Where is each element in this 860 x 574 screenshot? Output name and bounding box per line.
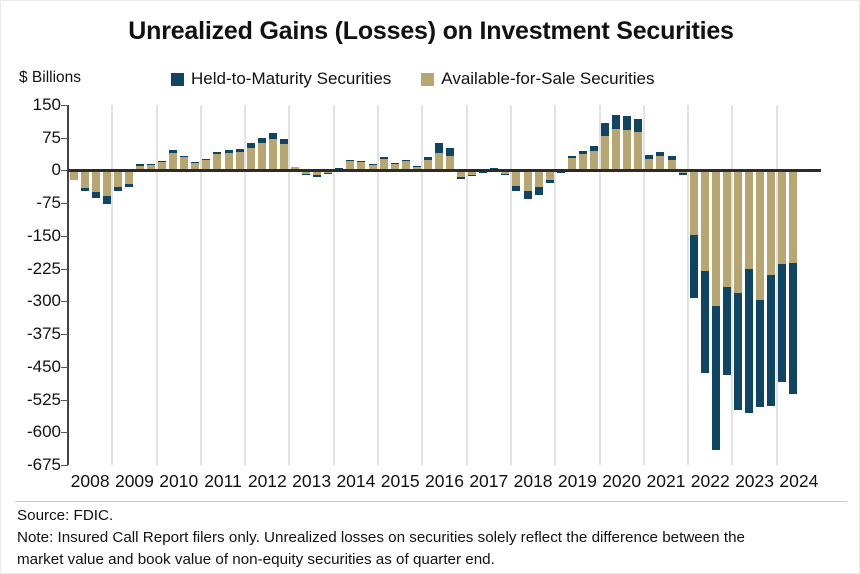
x-tick-label: 2024 bbox=[779, 471, 818, 492]
bar-segment-held-to-maturity bbox=[546, 180, 554, 183]
bar-group[interactable] bbox=[213, 105, 221, 465]
bar-segment-held-to-maturity bbox=[557, 172, 565, 173]
bar-group[interactable] bbox=[114, 105, 122, 465]
footer-note-line-2: market value and book value of non-equit… bbox=[17, 549, 847, 571]
y-tick-mark bbox=[61, 334, 68, 335]
bar-group[interactable] bbox=[402, 105, 410, 465]
bar-segment-available-for-sale bbox=[745, 170, 753, 268]
bar-group[interactable] bbox=[424, 105, 432, 465]
legend-item-available-for-sale[interactable]: Available-for-Sale Securities bbox=[421, 69, 654, 89]
bar-segment-available-for-sale bbox=[767, 170, 775, 275]
bar-segment-available-for-sale bbox=[623, 130, 631, 170]
y-tick-label: -675 bbox=[27, 455, 61, 475]
bar-group[interactable] bbox=[568, 105, 576, 465]
bar-segment-available-for-sale bbox=[114, 170, 122, 187]
bar-group[interactable] bbox=[158, 105, 166, 465]
y-tick-label: -300 bbox=[27, 291, 61, 311]
footer-source: Source: FDIC. bbox=[17, 505, 847, 527]
bar-group[interactable] bbox=[103, 105, 111, 465]
y-tick-mark bbox=[61, 203, 68, 204]
bar-group[interactable] bbox=[579, 105, 587, 465]
footer-divider bbox=[15, 501, 847, 502]
bar-segment-held-to-maturity bbox=[535, 187, 543, 195]
bar-group[interactable] bbox=[236, 105, 244, 465]
bar-segment-held-to-maturity bbox=[169, 150, 177, 153]
bar-segment-held-to-maturity bbox=[656, 152, 664, 156]
bar-segment-available-for-sale bbox=[280, 144, 288, 171]
x-tick-label: 2018 bbox=[514, 471, 553, 492]
bar-group[interactable] bbox=[446, 105, 454, 465]
bar-group[interactable] bbox=[70, 105, 78, 465]
bar-segment-held-to-maturity bbox=[690, 235, 698, 298]
y-tick-label: 0 bbox=[52, 160, 61, 180]
bar-segment-held-to-maturity bbox=[457, 177, 465, 179]
bar-segment-available-for-sale bbox=[601, 136, 609, 170]
x-tick-label: 2009 bbox=[115, 471, 154, 492]
bar-segment-held-to-maturity bbox=[313, 175, 321, 177]
bar-segment-available-for-sale bbox=[258, 143, 266, 170]
bar-segment-held-to-maturity bbox=[712, 306, 720, 450]
y-tick-mark bbox=[61, 170, 68, 171]
bar-segment-available-for-sale bbox=[712, 170, 720, 305]
bar-segment-held-to-maturity bbox=[92, 192, 100, 197]
bar-segment-held-to-maturity bbox=[191, 162, 199, 163]
bar-segment-available-for-sale bbox=[734, 170, 742, 292]
bar-group[interactable] bbox=[623, 105, 631, 465]
bar-segment-held-to-maturity bbox=[346, 160, 354, 161]
bar-segment-held-to-maturity bbox=[634, 119, 642, 132]
bar-segment-held-to-maturity bbox=[202, 159, 210, 160]
legend-swatch-held-to-maturity bbox=[171, 73, 184, 86]
bar-segment-held-to-maturity bbox=[247, 143, 255, 147]
bar-segment-held-to-maturity bbox=[501, 174, 509, 175]
y-tick-mark bbox=[61, 432, 68, 433]
bar-segment-available-for-sale bbox=[690, 170, 698, 235]
bar-segment-held-to-maturity bbox=[81, 188, 89, 191]
bar-group[interactable] bbox=[712, 105, 720, 465]
bar-segment-held-to-maturity bbox=[180, 156, 188, 158]
bar-group[interactable] bbox=[247, 105, 255, 465]
y-tick-mark bbox=[61, 138, 68, 139]
legend-swatch-available-for-sale bbox=[421, 73, 434, 86]
y-tick-mark bbox=[61, 105, 68, 106]
bar-group[interactable] bbox=[767, 105, 775, 465]
bar-segment-available-for-sale bbox=[778, 170, 786, 264]
bar-segment-held-to-maturity bbox=[512, 186, 520, 191]
bar-segment-held-to-maturity bbox=[357, 161, 365, 162]
chart-frame: Unrealized Gains (Losses) on Investment … bbox=[0, 0, 860, 574]
y-tick-label: 75 bbox=[42, 128, 61, 148]
bar-segment-available-for-sale bbox=[723, 170, 731, 287]
y-tick-mark bbox=[61, 465, 68, 466]
bar-segment-available-for-sale bbox=[92, 170, 100, 192]
y-tick-label: -375 bbox=[27, 324, 61, 344]
bar-segment-held-to-maturity bbox=[380, 157, 388, 159]
bar-segment-available-for-sale bbox=[789, 170, 797, 263]
bar-segment-held-to-maturity bbox=[125, 184, 133, 187]
bar-segment-available-for-sale bbox=[125, 170, 133, 183]
bar-group[interactable] bbox=[225, 105, 233, 465]
y-tick-label: -150 bbox=[27, 226, 61, 246]
bar-segment-held-to-maturity bbox=[402, 160, 410, 161]
bar-segment-held-to-maturity bbox=[479, 172, 487, 173]
bar-segment-held-to-maturity bbox=[778, 264, 786, 382]
bar-group[interactable] bbox=[535, 105, 543, 465]
y-tick-mark bbox=[61, 367, 68, 368]
bar-segment-available-for-sale bbox=[269, 139, 277, 170]
bar-segment-held-to-maturity bbox=[213, 152, 221, 154]
legend-label-available-for-sale: Available-for-Sale Securities bbox=[441, 69, 654, 89]
bar-group[interactable] bbox=[269, 105, 277, 465]
bar-segment-held-to-maturity bbox=[590, 146, 598, 150]
bar-group[interactable] bbox=[479, 105, 487, 465]
y-tick-mark bbox=[61, 236, 68, 237]
x-tick-label: 2022 bbox=[691, 471, 730, 492]
y-tick-label: -525 bbox=[27, 390, 61, 410]
y-tick-mark bbox=[61, 400, 68, 401]
bar-segment-available-for-sale bbox=[247, 148, 255, 171]
bar-segment-held-to-maturity bbox=[413, 166, 421, 167]
bar-group[interactable] bbox=[92, 105, 100, 465]
x-tick-label: 2013 bbox=[292, 471, 331, 492]
bar-group[interactable] bbox=[380, 105, 388, 465]
bar-group[interactable] bbox=[313, 105, 321, 465]
bar-segment-available-for-sale bbox=[169, 153, 177, 171]
bar-segment-available-for-sale bbox=[213, 154, 221, 171]
bar-group[interactable] bbox=[280, 105, 288, 465]
legend-item-held-to-maturity[interactable]: Held-to-Maturity Securities bbox=[171, 69, 391, 89]
bar-group[interactable] bbox=[690, 105, 698, 465]
bar-segment-held-to-maturity bbox=[269, 133, 277, 139]
bar-segment-held-to-maturity bbox=[612, 115, 620, 129]
x-tick-label: 2011 bbox=[204, 471, 242, 492]
bar-group[interactable] bbox=[324, 105, 332, 465]
bar-group[interactable] bbox=[413, 105, 421, 465]
bar-group[interactable] bbox=[645, 105, 653, 465]
zero-baseline bbox=[68, 169, 821, 172]
bar-group[interactable] bbox=[701, 105, 709, 465]
bar-segment-held-to-maturity bbox=[236, 149, 244, 152]
legend-label-held-to-maturity: Held-to-Maturity Securities bbox=[191, 69, 391, 89]
bar-segment-held-to-maturity bbox=[136, 164, 144, 165]
bar-group[interactable] bbox=[490, 105, 498, 465]
chart-footer: Source: FDIC. Note: Insured Call Report … bbox=[17, 505, 847, 572]
bar-group[interactable] bbox=[147, 105, 155, 465]
bar-group[interactable] bbox=[369, 105, 377, 465]
bar-group[interactable] bbox=[180, 105, 188, 465]
bar-group[interactable] bbox=[723, 105, 731, 465]
bar-segment-available-for-sale bbox=[756, 170, 764, 300]
bar-group[interactable] bbox=[668, 105, 676, 465]
bar-segment-held-to-maturity bbox=[114, 187, 122, 190]
bar-group[interactable] bbox=[125, 105, 133, 465]
x-tick-label: 2017 bbox=[469, 471, 508, 492]
bar-segment-held-to-maturity bbox=[601, 123, 609, 136]
bar-group[interactable] bbox=[590, 105, 598, 465]
y-tick-mark bbox=[61, 301, 68, 302]
x-tick-label: 2020 bbox=[602, 471, 641, 492]
bar-segment-available-for-sale bbox=[236, 152, 244, 170]
bar-segment-available-for-sale bbox=[535, 170, 543, 187]
x-tick-label: 2023 bbox=[735, 471, 774, 492]
bar-group[interactable] bbox=[524, 105, 532, 465]
bar-group[interactable] bbox=[557, 105, 565, 465]
bar-group[interactable] bbox=[346, 105, 354, 465]
bar-group[interactable] bbox=[546, 105, 554, 465]
bar-segment-available-for-sale bbox=[579, 154, 587, 170]
bar-segment-available-for-sale bbox=[524, 170, 532, 190]
y-axis-labels: 150750-75-150-225-300-375-450-525-600-67… bbox=[1, 105, 61, 465]
bar-segment-held-to-maturity bbox=[524, 191, 532, 200]
bar-segment-held-to-maturity bbox=[789, 263, 797, 394]
bar-segment-available-for-sale bbox=[446, 156, 454, 170]
bar-group[interactable] bbox=[501, 105, 509, 465]
y-tick-label: -600 bbox=[27, 422, 61, 442]
bar-segment-held-to-maturity bbox=[280, 139, 288, 143]
bar-group[interactable] bbox=[258, 105, 266, 465]
bar-segment-held-to-maturity bbox=[756, 300, 764, 407]
bar-group[interactable] bbox=[169, 105, 177, 465]
bar-segment-held-to-maturity bbox=[258, 138, 266, 143]
bar-segment-available-for-sale bbox=[701, 170, 709, 270]
plot-area bbox=[68, 105, 821, 465]
bar-segment-held-to-maturity bbox=[767, 275, 775, 406]
bar-segment-available-for-sale bbox=[512, 170, 520, 186]
bar-segment-held-to-maturity bbox=[468, 175, 476, 176]
bar-group[interactable] bbox=[391, 105, 399, 465]
bar-segment-held-to-maturity bbox=[745, 269, 753, 413]
bar-segment-held-to-maturity bbox=[147, 164, 155, 165]
bar-group[interactable] bbox=[302, 105, 310, 465]
bar-segment-held-to-maturity bbox=[369, 164, 377, 165]
bar-segment-available-for-sale bbox=[612, 129, 620, 170]
bar-group[interactable] bbox=[136, 105, 144, 465]
bar-group[interactable] bbox=[778, 105, 786, 465]
bar-segment-held-to-maturity bbox=[158, 161, 166, 162]
chart-title: Unrealized Gains (Losses) on Investment … bbox=[1, 17, 860, 46]
x-tick-label: 2012 bbox=[248, 471, 287, 492]
bar-group[interactable] bbox=[291, 105, 299, 465]
bar-segment-held-to-maturity bbox=[302, 174, 310, 176]
bar-segment-held-to-maturity bbox=[668, 156, 676, 159]
bar-group[interactable] bbox=[679, 105, 687, 465]
x-tick-label: 2021 bbox=[647, 471, 686, 492]
bar-group[interactable] bbox=[81, 105, 89, 465]
bar-segment-held-to-maturity bbox=[324, 173, 332, 174]
bar-segment-held-to-maturity bbox=[623, 116, 631, 130]
bar-segment-available-for-sale bbox=[590, 151, 598, 171]
bar-group[interactable] bbox=[435, 105, 443, 465]
bar-group[interactable] bbox=[468, 105, 476, 465]
x-tick-label: 2019 bbox=[558, 471, 597, 492]
y-tick-label: 150 bbox=[33, 95, 61, 115]
bar-segment-held-to-maturity bbox=[679, 173, 687, 175]
bar-group[interactable] bbox=[202, 105, 210, 465]
x-tick-label: 2014 bbox=[336, 471, 375, 492]
bar-group[interactable] bbox=[745, 105, 753, 465]
bar-group[interactable] bbox=[756, 105, 764, 465]
bar-group[interactable] bbox=[612, 105, 620, 465]
bar-segment-held-to-maturity bbox=[225, 150, 233, 153]
bar-segment-available-for-sale bbox=[81, 170, 89, 188]
bar-group[interactable] bbox=[191, 105, 199, 465]
y-tick-mark bbox=[61, 269, 68, 270]
y-axis-unit-label: $ Billions bbox=[19, 69, 81, 87]
bar-segment-held-to-maturity bbox=[446, 148, 454, 156]
x-tick-label: 2016 bbox=[425, 471, 464, 492]
bar-segment-held-to-maturity bbox=[568, 156, 576, 159]
chart-legend: Held-to-Maturity Securities Available-fo… bbox=[171, 69, 655, 89]
bar-group[interactable] bbox=[656, 105, 664, 465]
bar-group[interactable] bbox=[789, 105, 797, 465]
bar-segment-held-to-maturity bbox=[103, 196, 111, 204]
bar-segment-available-for-sale bbox=[634, 132, 642, 170]
footer-note-line-1: Note: Insured Call Report filers only. U… bbox=[17, 527, 847, 549]
bar-group[interactable] bbox=[512, 105, 520, 465]
bar-segment-held-to-maturity bbox=[701, 271, 709, 374]
x-tick-label: 2008 bbox=[71, 471, 110, 492]
bar-group[interactable] bbox=[634, 105, 642, 465]
bar-segment-available-for-sale bbox=[435, 153, 443, 170]
bar-segment-held-to-maturity bbox=[579, 151, 587, 154]
bar-group[interactable] bbox=[601, 105, 609, 465]
bar-group[interactable] bbox=[335, 105, 343, 465]
bar-segment-held-to-maturity bbox=[734, 293, 742, 411]
bar-group[interactable] bbox=[734, 105, 742, 465]
y-tick-label: -450 bbox=[27, 357, 61, 377]
x-axis-labels: 2008200920102011201220132014201520162017… bbox=[68, 471, 821, 497]
bar-segment-held-to-maturity bbox=[723, 287, 731, 374]
y-tick-label: -75 bbox=[36, 193, 61, 213]
x-tick-label: 2015 bbox=[381, 471, 420, 492]
bar-segment-held-to-maturity bbox=[645, 155, 653, 158]
y-tick-label: -225 bbox=[27, 259, 61, 279]
x-tick-label: 2010 bbox=[159, 471, 198, 492]
bar-segment-available-for-sale bbox=[103, 170, 111, 196]
bar-segment-available-for-sale bbox=[225, 153, 233, 170]
bar-group[interactable] bbox=[357, 105, 365, 465]
bar-segment-held-to-maturity bbox=[424, 157, 432, 159]
bar-group[interactable] bbox=[457, 105, 465, 465]
bar-segment-held-to-maturity bbox=[435, 143, 443, 153]
bar-segment-held-to-maturity bbox=[391, 163, 399, 164]
bar-segment-available-for-sale bbox=[656, 156, 664, 170]
